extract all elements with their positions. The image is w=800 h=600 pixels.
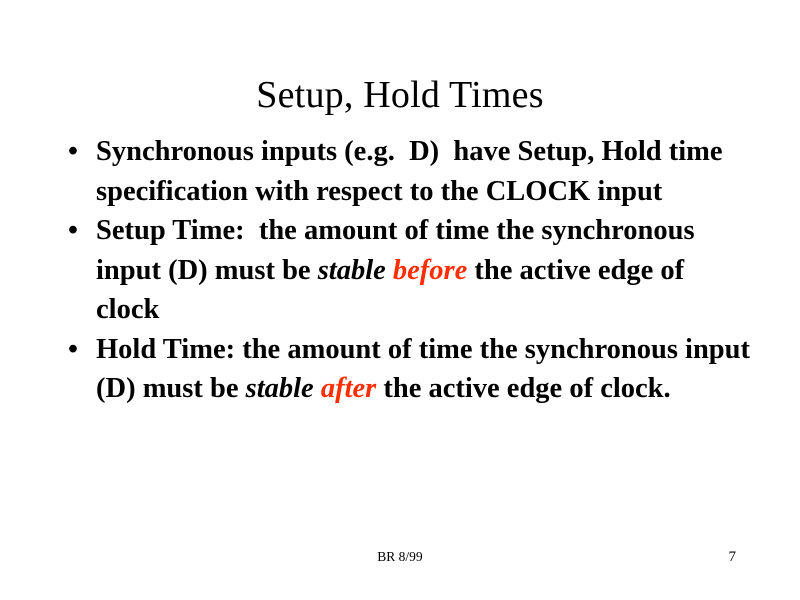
slide-footer: BR 8/99 7 [0,548,800,572]
list-item: • Hold Time: the amount of time the sync… [60,330,750,409]
list-item-text: Synchronous inputs (e.g. D) have Setup, … [96,132,750,211]
text-run [386,255,393,286]
list-item: • Setup Time: the amount of time the syn… [60,211,750,330]
list-item: • Synchronous inputs (e.g. D) have Setup… [60,132,750,211]
bullet-point-icon: • [68,330,78,370]
page-title: Setup, Hold Times [60,73,740,117]
slide-canvas: Setup, Hold Times • Synchronous inputs (… [0,0,800,600]
footer-page-number: 7 [729,548,737,566]
footer-author-date: BR 8/99 [0,548,800,566]
bullet-list: • Synchronous inputs (e.g. D) have Setup… [60,132,750,409]
bullet-point-icon: • [68,211,78,251]
emphasis-before: before [393,255,467,286]
emphasis-stable: stable [318,255,386,286]
text-run [314,373,321,404]
list-item-text: Hold Time: the amount of time the synchr… [96,330,750,409]
text-run: Synchronous inputs (e.g. D) have Setup, … [96,136,723,207]
list-item-text: Setup Time: the amount of time the synch… [96,211,750,330]
emphasis-stable: stable [246,373,314,404]
bullet-point-icon: • [68,132,78,172]
emphasis-after: after [321,373,376,404]
text-run: the active edge of clock. [376,373,670,404]
